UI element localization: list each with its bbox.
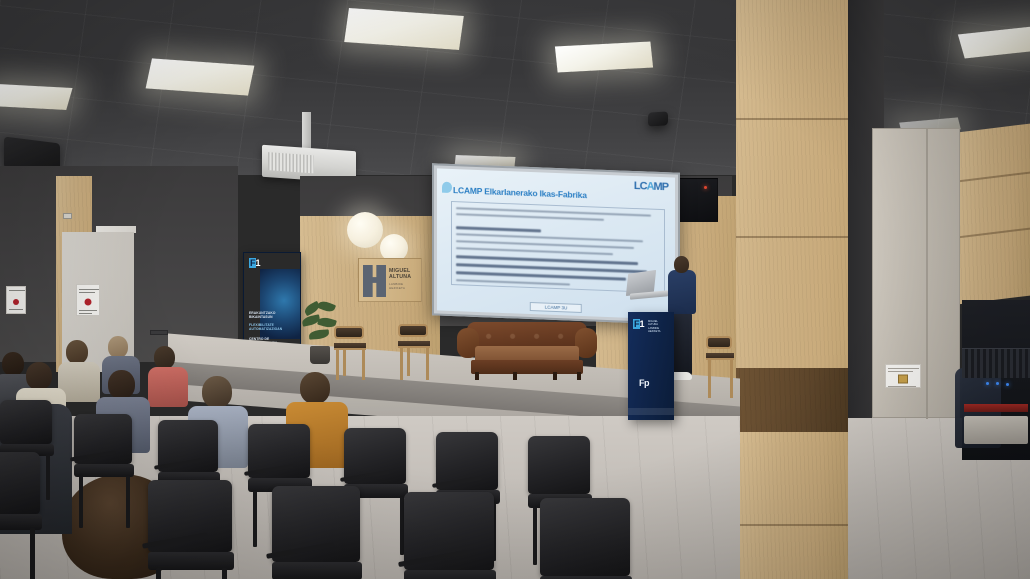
wood-pillar-band <box>736 368 848 432</box>
sofa-base <box>471 360 583 374</box>
crest-icon <box>898 374 908 383</box>
wood-pillar-lower <box>736 432 848 579</box>
tall-cabinet-door[interactable] <box>872 128 960 418</box>
plant-pot <box>310 346 330 364</box>
projection-screen: LCAMP LCAMP Elkarlanerako Ikas-Fabrika L… <box>432 163 680 325</box>
pendant-lamp-large <box>347 212 383 248</box>
wall-outlet-plate <box>150 330 168 335</box>
projector-mount-pole <box>302 112 311 152</box>
banner-sub-eu: FLEXIBILITATE AUTOMATIZAZIOAN <box>249 323 285 332</box>
wood-wall-right <box>958 124 1030 305</box>
projector-vent-icon <box>268 152 314 173</box>
venue-name: MIGUEL ALTUNA <box>389 268 411 280</box>
venue-wall-sign: MIGUEL ALTUNA LANBIDE HEZIKETA <box>358 258 422 302</box>
presenter-torso <box>668 270 696 314</box>
slide-footer: LCAMP 3U <box>530 302 582 313</box>
leather-sofa <box>457 322 597 380</box>
cabinet-seam <box>926 129 928 419</box>
venue-subtitle-line2: HEZIKETA <box>389 287 405 291</box>
lectern-sub-4: HEZIKETA <box>648 330 672 333</box>
banner-logo: F1 <box>249 258 260 268</box>
rack-unit-panel <box>964 416 1028 444</box>
conference-room-photo: MIGUEL ALTUNA LANBIDE HEZIKETA LCAMP LCA… <box>0 0 1030 579</box>
audio-mixer[interactable] <box>962 348 1030 378</box>
venue-name-line2: ALTUNA <box>389 274 411 280</box>
ceiling-led-panel <box>555 41 653 72</box>
cabinet-notice-sign <box>885 364 921 388</box>
lectern-footer-band <box>628 408 674 415</box>
rack-unit-red <box>964 404 1028 412</box>
status-led-icon <box>704 186 707 189</box>
no-entry-sign-icon <box>76 284 100 316</box>
panel-seam <box>736 118 848 120</box>
lectern-subtitle: MIGUEL ALTUNA LANBIDE HEZIKETA <box>648 320 672 333</box>
ceiling-speaker-small <box>648 111 668 126</box>
control-booth-window <box>676 178 718 222</box>
venue-subtitle: LANBIDE HEZIKETA <box>389 283 405 291</box>
presenter-legs <box>672 312 692 376</box>
panel-seam <box>736 524 848 526</box>
ceiling-led-panel <box>0 84 73 110</box>
slide-bullet-dot-icon <box>442 182 452 193</box>
banner-sub-eu-2: AUTOMATIZAZIOAN <box>249 327 285 331</box>
sofa-backrest <box>467 322 587 348</box>
lectern-logo: F1 <box>633 319 644 329</box>
emergency-light <box>63 213 72 219</box>
no-entry-sign-icon <box>6 286 26 314</box>
presenter-head <box>674 256 689 273</box>
lectern-brand: Fp <box>639 378 649 388</box>
lectern: F1 MIGUEL ALTUNA LANBIDE HEZIKETA Fp <box>628 312 674 420</box>
panel-seam <box>736 236 848 238</box>
venue-logo-mark-icon <box>363 265 386 297</box>
banner-heading-eu: ERAKUNTZAKO BIKAINTASUN <box>249 311 285 320</box>
banner-heading-eu-2: BIKAINTASUN <box>249 315 285 319</box>
